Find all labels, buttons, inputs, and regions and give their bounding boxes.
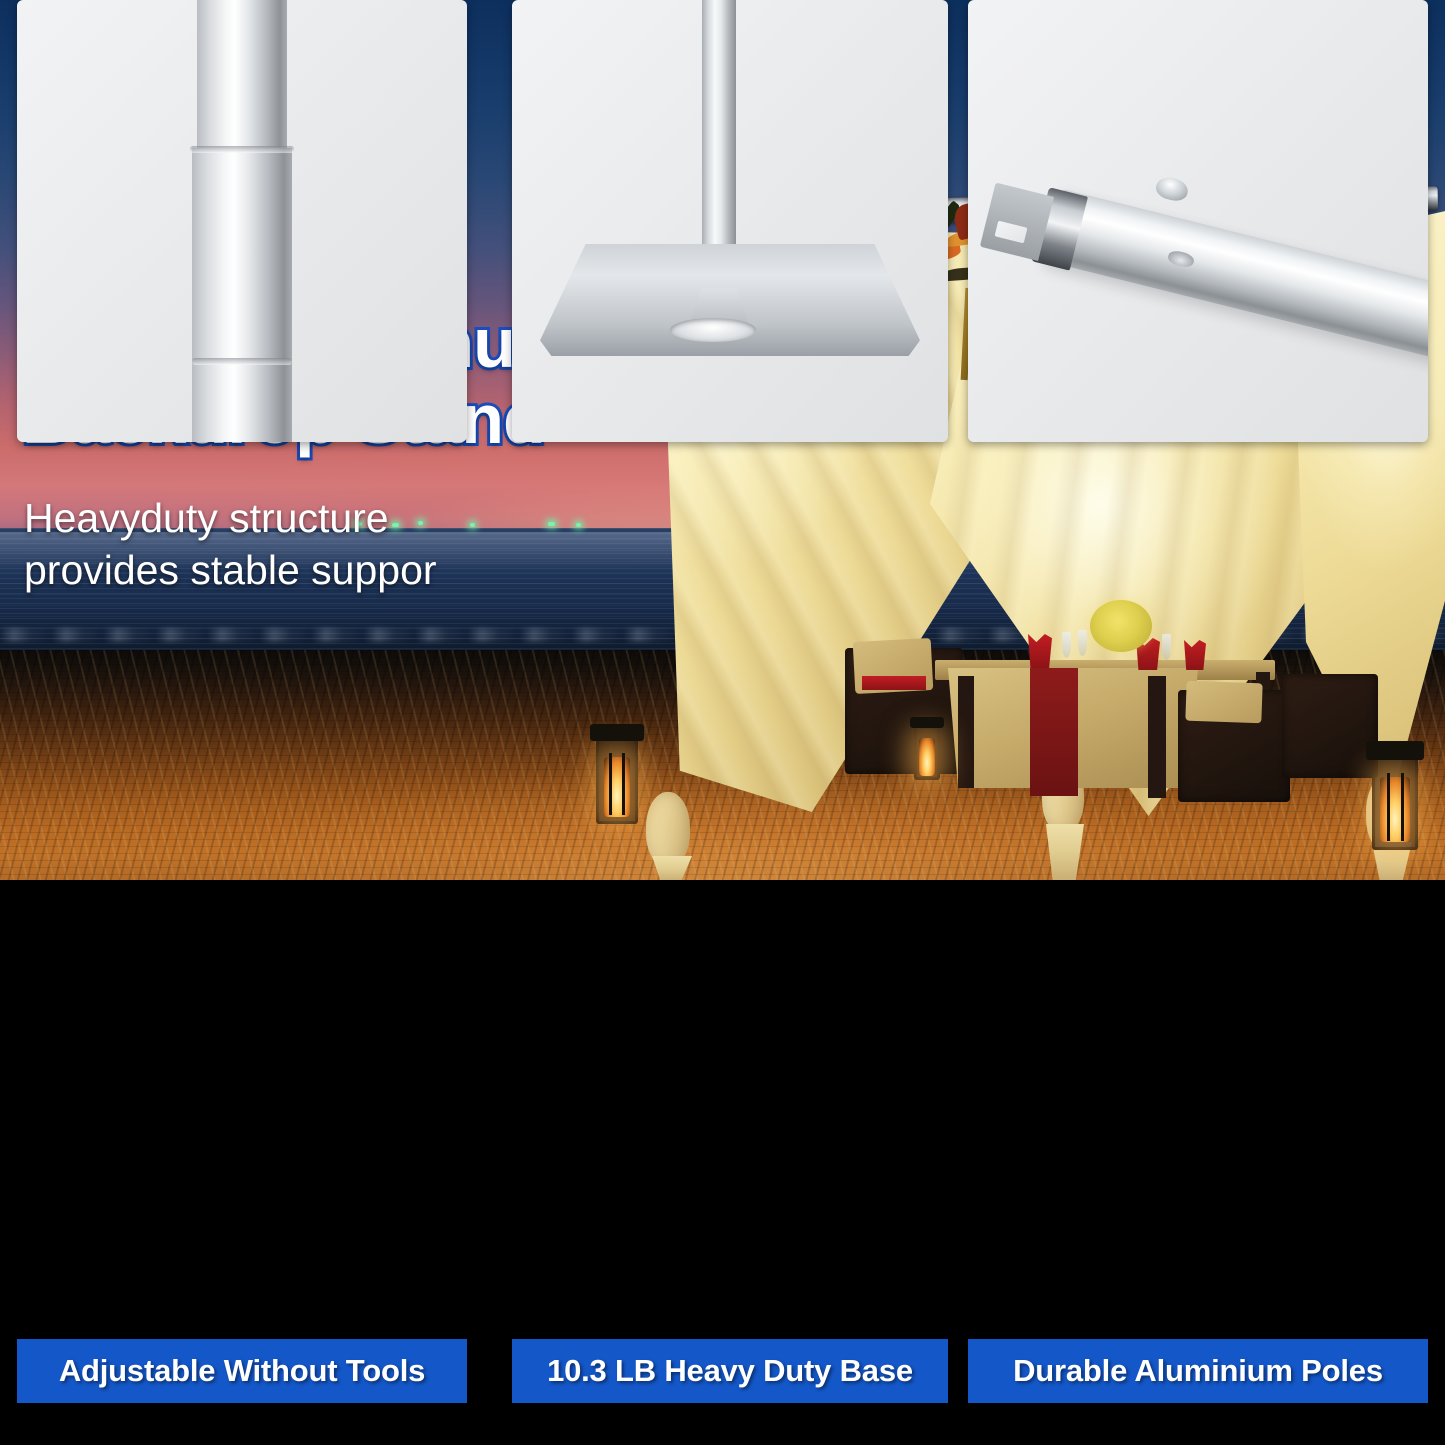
- telescoping-pole-lower-icon: [192, 148, 292, 442]
- aluminium-pole-icon: [1045, 189, 1428, 365]
- chair-right-cushion: [1185, 681, 1262, 724]
- wine-glass-3: [1162, 634, 1171, 660]
- pole-joint-seam-upper-icon: [190, 146, 294, 153]
- table-runner: [1030, 668, 1078, 796]
- chair-left-accent: [862, 676, 926, 690]
- chair-far: [1282, 674, 1378, 778]
- lantern-left: [596, 738, 638, 824]
- caption-adjustable: Adjustable Without Tools: [17, 1339, 467, 1403]
- base-slot-icon: [670, 318, 756, 342]
- telescoping-pole-upper-icon: [197, 0, 287, 150]
- feature-panel-adjustable: [17, 0, 467, 442]
- table-bouquet: [1090, 600, 1152, 652]
- table-leg-left: [958, 676, 974, 788]
- wine-glass-2: [1078, 630, 1087, 656]
- caption-poles: Durable Aluminium Poles: [968, 1339, 1428, 1403]
- napkin-1: [1028, 634, 1052, 668]
- feature-panel-base: [512, 0, 948, 442]
- caption-base: 10.3 LB Heavy Duty Base: [512, 1339, 948, 1403]
- subhead-line-2: provides stable suppor: [24, 544, 644, 596]
- subhead-line-1: Heavyduty structure: [24, 492, 644, 544]
- spring-button-icon: [1154, 174, 1190, 203]
- table-leg-right: [1148, 676, 1166, 798]
- feature-panel-poles: [968, 0, 1428, 442]
- drape-knot-left: [646, 792, 690, 866]
- pole-joint-seam-lower-icon: [192, 358, 292, 365]
- wine-glass-1: [1062, 632, 1071, 658]
- lantern-right: [1372, 756, 1418, 850]
- napkin-3: [1184, 640, 1206, 670]
- page-subtitle: Heavyduty structure provides stable supp…: [24, 492, 644, 596]
- product-marketing-image: Stable Aluminum Backdrop Stand Heavyduty…: [0, 0, 1445, 1445]
- lantern-table: [914, 726, 940, 780]
